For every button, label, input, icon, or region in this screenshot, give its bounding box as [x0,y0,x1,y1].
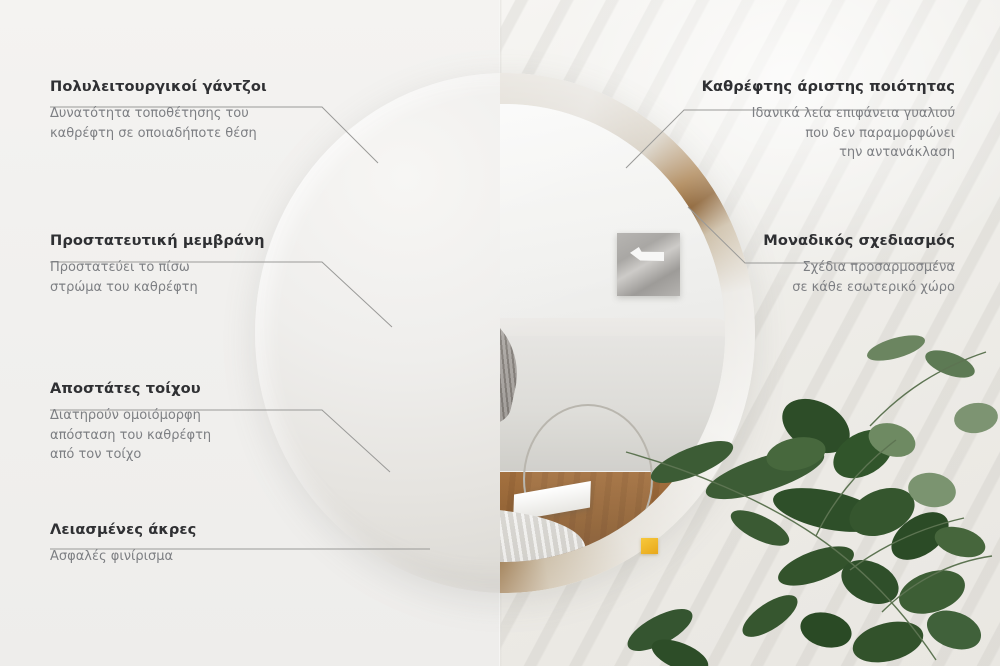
callout-hooks-body: Δυνατότητα τοποθέτησης τουκαθρέφτη σε οπ… [50,104,267,143]
callout-spacers-body: Διατηρούν ομοιόμορφηαπόσταση του καθρέφτ… [50,406,211,465]
callout-membrane-body: Προστατεύει το πίσωστρώμα του καθρέφτη [50,258,265,297]
infographic-stage: Πολυλειτουργικοί γάντζοι Δυνατότητα τοπο… [0,0,1000,666]
callout-unique-design-title: Μοναδικός σχεδιασμός [763,232,955,249]
callout-quality-mirror-body: Ιδανικά λεία επιφάνεια γυαλιούπου δεν πα… [702,104,955,163]
callout-spacers: Αποστάτες τοίχου Διατηρούν ομοιόμορφηαπό… [50,380,211,465]
callout-quality-mirror: Καθρέφτης άριστης ποιότητας Ιδανικά λεία… [702,78,955,163]
callout-membrane-title: Προστατευτική μεμβράνη [50,232,265,249]
callout-membrane: Προστατευτική μεμβράνη Προστατεύει το πί… [50,232,265,297]
callout-unique-design-body: Σχέδια προσαρμοσμένασε κάθε εσωτερικό χώ… [763,258,955,297]
callout-edges-body: Ασφαλές φινίρισμα [50,547,196,567]
wall-spacer [641,538,658,554]
callout-edges: Λειασμένες άκρες Ασφαλές φινίρισμα [50,521,196,567]
callout-quality-mirror-title: Καθρέφτης άριστης ποιότητας [702,78,955,95]
callout-unique-design: Μοναδικός σχεδιασμός Σχέδια προσαρμοσμέν… [763,232,955,297]
hook-plate [617,233,680,296]
mirror-glass [500,104,725,562]
hook-slot-icon [630,247,664,261]
callout-hooks: Πολυλειτουργικοί γάντζοι Δυνατότητα τοπο… [50,78,267,143]
callout-hooks-title: Πολυλειτουργικοί γάντζοι [50,78,267,95]
callout-spacers-title: Αποστάτες τοίχου [50,380,211,397]
callout-edges-title: Λειασμένες άκρες [50,521,196,538]
mirror-product [255,73,755,593]
